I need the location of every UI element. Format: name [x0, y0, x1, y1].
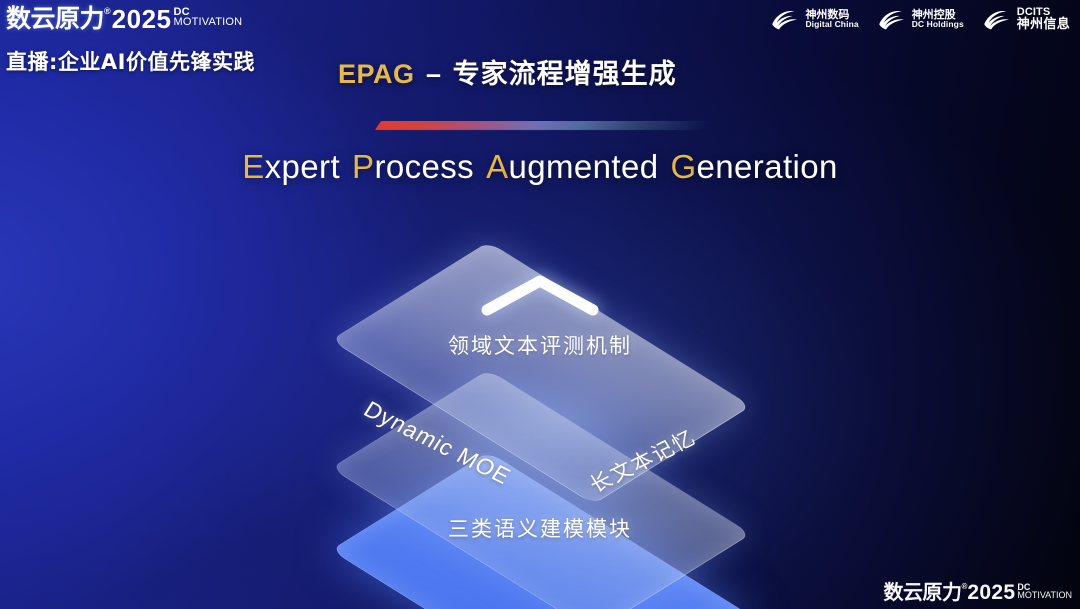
- event-logo-registered-mark: ®: [104, 6, 111, 16]
- partner-logo-digital-china: 神州数码 Digital China: [770, 6, 858, 32]
- accent-gradient-bar: [375, 121, 711, 130]
- event-logo-cn: 数云原力: [6, 6, 104, 31]
- subtitle-word-3: Augmented: [486, 148, 658, 185]
- event-logo-year: 2025: [112, 6, 172, 32]
- partner-logo-text: 神州控股 DC Holdings: [912, 9, 964, 29]
- watermark-cn: 数云原力: [884, 582, 962, 602]
- partner-logo-text: DCITS 神州信息: [1017, 7, 1070, 31]
- page-title-acronym: EPAG: [338, 59, 415, 89]
- subtitle-word-1-cap: E: [242, 148, 264, 185]
- subtitle-word-2: Process: [352, 148, 474, 185]
- page-title-dash: –: [422, 59, 445, 89]
- swirl-logo-icon: [877, 6, 907, 32]
- subtitle-word-4: Generation: [670, 148, 837, 185]
- subtitle-word-1-rest: xpert: [265, 148, 340, 185]
- partner-logo-en: DC Holdings: [912, 20, 964, 29]
- subtitle-word-2-rest: rocess: [374, 148, 474, 185]
- page-title: EPAG – 专家流程增强生成: [338, 52, 677, 91]
- layered-stack-diagram: 领域文本评测机制 Dynamic MOE 长文本记忆 三类语义建模模块: [284, 218, 796, 568]
- subtitle-word-3-cap: A: [486, 148, 508, 185]
- partner-logo-cn: 神州信息: [1017, 18, 1070, 31]
- subtitle-word-4-cap: G: [670, 148, 696, 185]
- subtitle-word-2-cap: P: [352, 148, 374, 185]
- subtitle: ExpertProcessAugmentedGeneration: [0, 148, 1080, 186]
- subtitle-word-4-rest: eneration: [697, 148, 838, 185]
- swirl-logo-icon: [770, 6, 800, 32]
- event-logo-motivation: MOTIVATION: [174, 17, 243, 27]
- partner-logo-dcits: DCITS 神州信息: [982, 6, 1070, 32]
- subtitle-word-1: Expert: [242, 148, 340, 185]
- slide-canvas: 数云原力 ® 2025 DC MOTIVATION 直播:企业AI价值先锋实践 …: [0, 0, 1080, 609]
- partner-logo-row: 神州数码 Digital China 神州控股 DC Holdings DCIT…: [770, 6, 1070, 32]
- subtitle-word-3-rest: ugmented: [508, 148, 658, 185]
- partner-logo-dc-holdings: 神州控股 DC Holdings: [877, 6, 964, 32]
- partner-logo-text: 神州数码 Digital China: [805, 9, 858, 29]
- watermark-dc-motivation: DC MOTIVATION: [1017, 582, 1072, 599]
- page-title-chinese: 专家流程增强生成: [453, 59, 677, 90]
- event-logo: 数云原力 ® 2025 DC MOTIVATION: [6, 6, 242, 32]
- watermark-motivation: MOTIVATION: [1017, 591, 1072, 599]
- watermark-year: 2025: [967, 582, 1015, 603]
- live-banner-text: 直播:企业AI价值先锋实践: [6, 46, 255, 76]
- partner-logo-en: Digital China: [805, 20, 858, 29]
- event-logo-dc-motivation: DC MOTIVATION: [174, 6, 243, 27]
- watermark-logo: 数云原力 ® 2025 DC MOTIVATION: [884, 582, 1073, 603]
- swirl-logo-icon: [982, 6, 1012, 32]
